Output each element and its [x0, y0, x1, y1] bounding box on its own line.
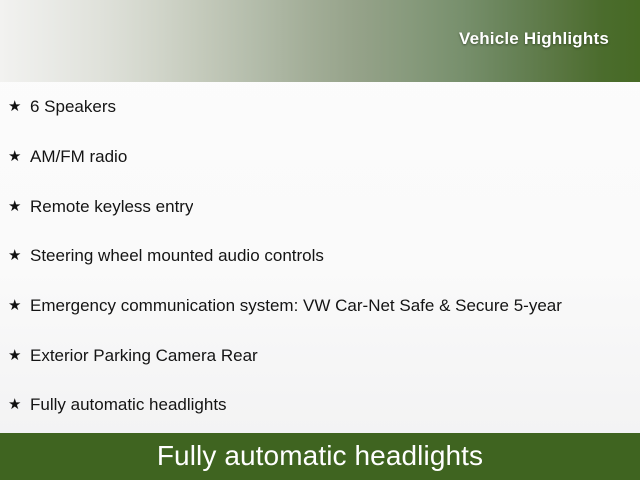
list-item: ★ Fully automatic headlights	[8, 392, 640, 418]
star-icon: ★	[8, 397, 30, 412]
caption-text: Fully automatic headlights	[157, 440, 483, 472]
highlight-label: 6 Speakers	[30, 96, 116, 118]
vehicle-highlights-list: ★ 6 Speakers ★ AM/FM radio ★ Remote keyl…	[0, 82, 640, 433]
vehicle-highlights-slide: Vehicle Highlights ★ 6 Speakers ★ AM/FM …	[0, 0, 640, 480]
page-title: Vehicle Highlights	[459, 29, 609, 49]
star-icon: ★	[8, 199, 30, 214]
highlight-label: Fully automatic headlights	[30, 394, 227, 416]
star-icon: ★	[8, 149, 30, 164]
list-item: ★ 6 Speakers	[8, 94, 640, 120]
highlight-label: Exterior Parking Camera Rear	[30, 345, 258, 367]
list-item: ★ Steering wheel mounted audio controls	[8, 243, 640, 269]
list-item: ★ Emergency communication system: VW Car…	[8, 293, 640, 319]
list-item: ★ Exterior Parking Camera Rear	[8, 343, 640, 369]
highlight-label: AM/FM radio	[30, 146, 127, 168]
star-icon: ★	[8, 248, 30, 263]
caption-bar: Fully automatic headlights	[0, 433, 640, 480]
star-icon: ★	[8, 99, 30, 114]
star-icon: ★	[8, 298, 30, 313]
highlight-label: Remote keyless entry	[30, 196, 193, 218]
list-item: ★ AM/FM radio	[8, 144, 640, 170]
highlight-label: Emergency communication system: VW Car-N…	[30, 295, 562, 317]
highlight-label: Steering wheel mounted audio controls	[30, 245, 324, 267]
header-banner: Vehicle Highlights	[0, 0, 640, 82]
list-item: ★ Remote keyless entry	[8, 194, 640, 220]
star-icon: ★	[8, 348, 30, 363]
